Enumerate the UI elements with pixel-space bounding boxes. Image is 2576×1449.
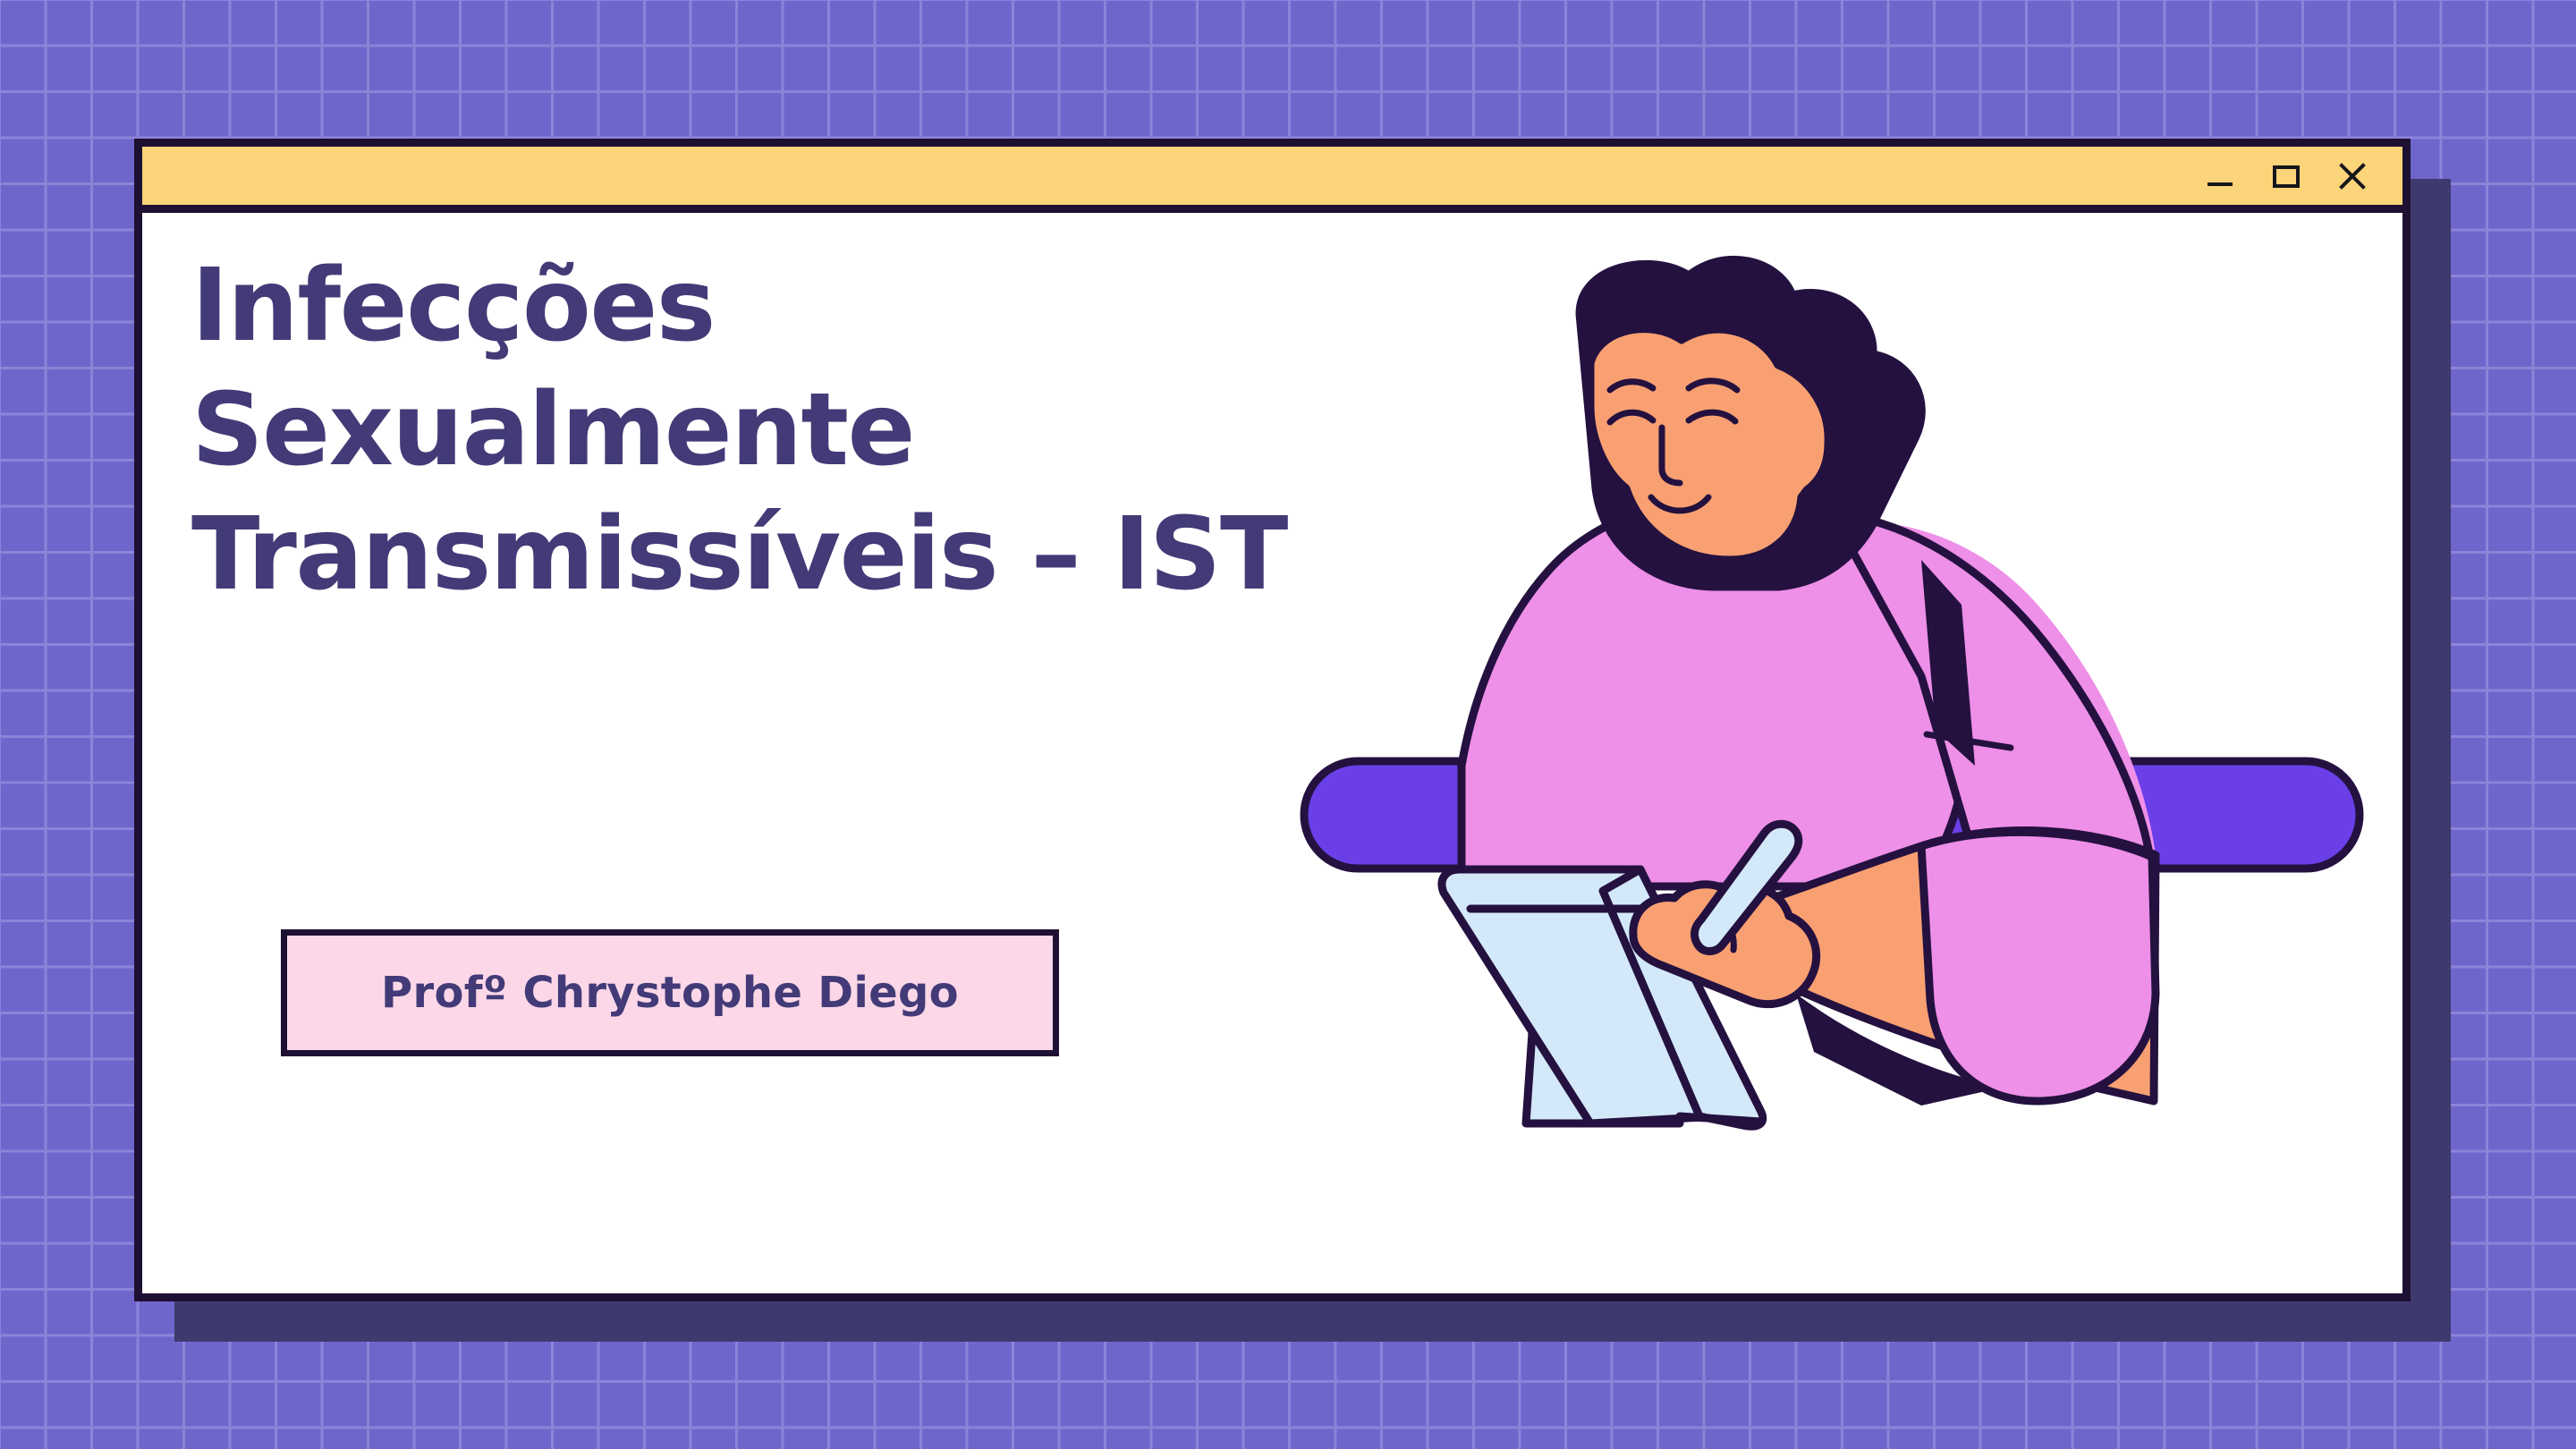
window-titlebar[interactable] <box>142 147 2402 213</box>
person-writing-illustration <box>1295 229 2395 1240</box>
window-content: Infecções Sexualmente Transmissíveis – I… <box>142 213 2402 1293</box>
author-badge: Profº Chrystophe Diego <box>281 929 1059 1056</box>
minimize-icon[interactable] <box>2204 160 2236 192</box>
maximize-icon[interactable] <box>2270 160 2302 192</box>
app-window: Infecções Sexualmente Transmissíveis – I… <box>134 139 2411 1301</box>
close-icon[interactable] <box>2336 160 2368 192</box>
slide-canvas: Infecções Sexualmente Transmissíveis – I… <box>0 0 2576 1449</box>
author-name: Profº Chrystophe Diego <box>381 968 959 1018</box>
